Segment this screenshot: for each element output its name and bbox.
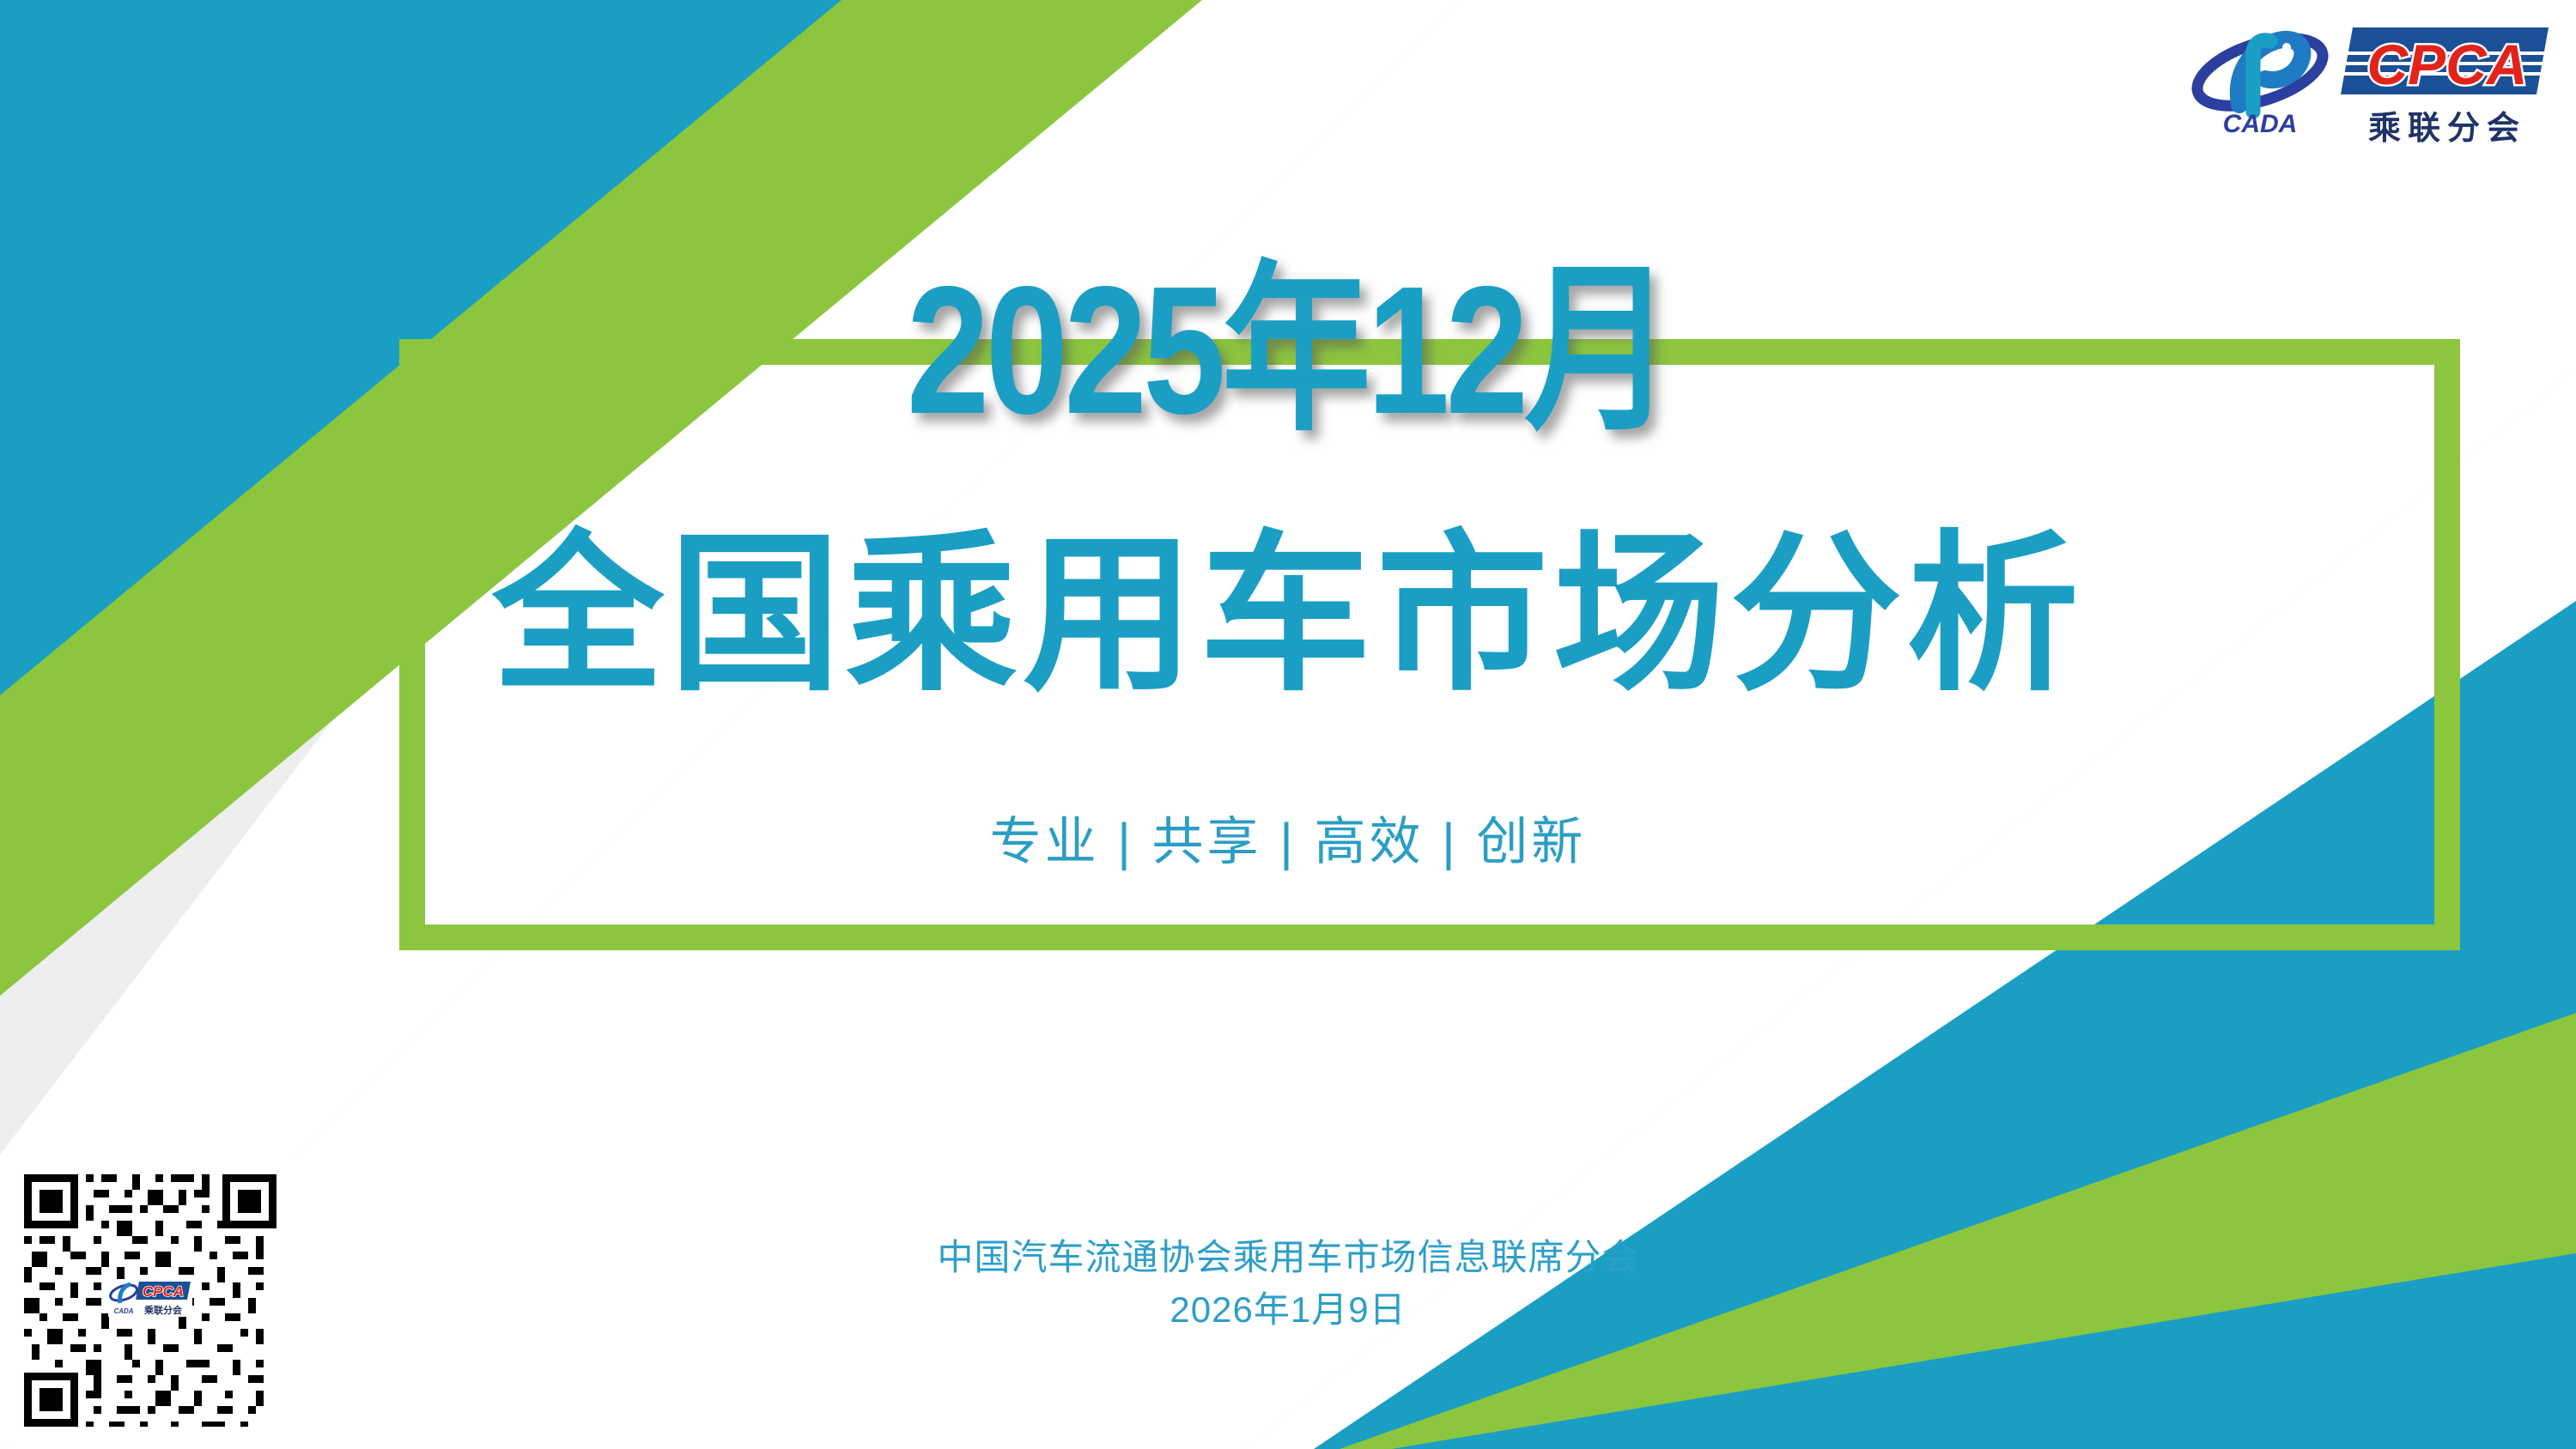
- cada-emblem-icon: CADA: [2190, 25, 2330, 138]
- cpca-wordmark-cn: 乘联分会: [2368, 111, 2526, 147]
- qr-code-graphic: CADA CPCA 乘联分会: [9, 1159, 292, 1442]
- cpca-logo: CADA CPCA 乘联分会: [2190, 19, 2550, 148]
- cpca-wordmark: CPCA: [2366, 33, 2527, 96]
- slide-tagline: 专业 | 共享 | 高效 | 创新: [0, 811, 2576, 873]
- svg-text:CADA: CADA: [113, 1307, 133, 1315]
- qr-center-logo-icon: CADA CPCA 乘联分会: [108, 1279, 192, 1317]
- svg-text:CPCA: CPCA: [143, 1283, 184, 1300]
- footer-organization: 中国汽车流通协会乘用车市场信息联席分会: [0, 1232, 2576, 1284]
- footer-date: 2026年1月9日: [0, 1284, 2576, 1337]
- qr-code: CADA CPCA 乘联分会: [9, 1159, 292, 1442]
- cpca-wordmark-block: CPCA: [2341, 27, 2549, 96]
- slide-main-title: 全国乘用车市场分析: [0, 525, 2576, 706]
- cpca-logo-graphic: CADA CPCA 乘联分会: [2190, 19, 2550, 148]
- svg-text:乘联分会: 乘联分会: [143, 1304, 183, 1316]
- slide-date-title: 2025年12月: [232, 259, 2344, 441]
- slide-footer: 中国汽车流通协会乘用车市场信息联席分会 2026年1月9日: [0, 1232, 2576, 1337]
- cada-wordmark: CADA: [2223, 110, 2298, 138]
- slide-canvas: 2025年12月 全国乘用车市场分析 专业 | 共享 | 高效 | 创新 中国汽…: [0, 0, 2576, 1449]
